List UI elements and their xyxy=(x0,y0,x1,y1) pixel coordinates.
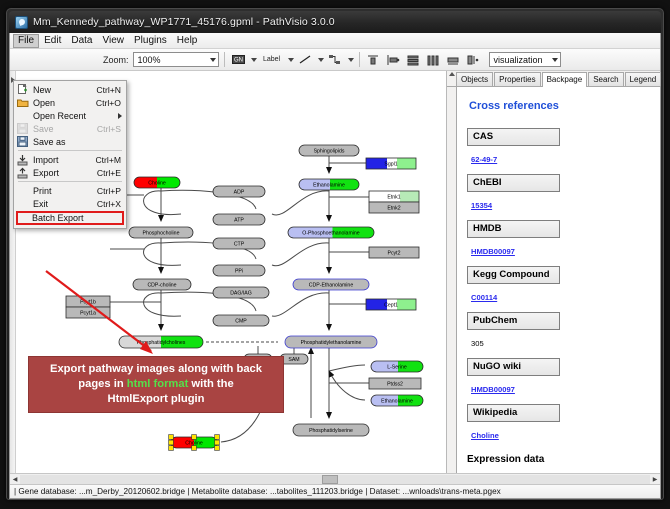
file-menu-item-label: Batch Export xyxy=(32,213,122,223)
toolbar: Zoom: 100% GN Label xyxy=(10,49,660,71)
window-titlebar: Mm_Kennedy_pathway_WP1771_45176.gpml - P… xyxy=(9,11,661,33)
save-as-icon xyxy=(16,136,29,147)
tab-search[interactable]: Search xyxy=(588,72,623,86)
window-title: Mm_Kennedy_pathway_WP1771_45176.gpml - P… xyxy=(33,16,335,28)
gene-product-tool-icon[interactable]: GN xyxy=(230,51,247,68)
scroll-left-icon[interactable]: ◀ xyxy=(10,475,20,484)
pathway-metabolite-node[interactable]: DAG/IAG xyxy=(213,287,269,298)
file-menu-item-label: Open xyxy=(33,98,96,108)
pathway-node-label: ADP xyxy=(234,189,245,195)
pathvisio-app-icon xyxy=(15,16,28,29)
file-menu-item-print[interactable]: PrintCtrl+P xyxy=(14,184,126,197)
pathway-node-label: Pcyt2 xyxy=(388,250,401,256)
align-left-tool-icon[interactable] xyxy=(385,51,402,68)
menu-edit[interactable]: Edit xyxy=(39,34,66,48)
zoom-label: Zoom: xyxy=(103,55,129,65)
svg-text:GN: GN xyxy=(234,58,243,64)
pathway-node-label: Sgpl1 xyxy=(384,161,397,167)
file-menu-item-accelerator: Ctrl+X xyxy=(97,199,126,209)
pathway-metabolite-node[interactable]: CMP xyxy=(213,315,269,326)
pathway-node-label: Sphingolipids xyxy=(314,148,345,154)
file-menu-item-accelerator: Ctrl+E xyxy=(97,168,126,178)
pathway-node-label: Phosphatidylcholines xyxy=(137,340,186,346)
toolbar-separator xyxy=(224,52,225,67)
pathway-node-label: Ptdss2 xyxy=(387,381,403,387)
align-top-tool-icon[interactable] xyxy=(365,51,382,68)
file-menu-item-label: Save as xyxy=(33,137,126,147)
backpage-left-rail xyxy=(456,87,457,473)
pathway-node-label: DAG/IAG xyxy=(230,290,252,296)
file-menu-item-label: Exit xyxy=(33,199,97,209)
pathway-metabolite-node[interactable]: Phosphatidylcholines xyxy=(119,336,203,348)
xref-source-cas: CAS xyxy=(467,128,560,146)
pathway-metabolite-node[interactable]: L-Serine xyxy=(371,361,423,372)
toolbar-separator-2 xyxy=(359,52,360,67)
xref-source-hmdb: HMDB xyxy=(467,220,560,238)
file-menu-separator xyxy=(18,150,122,151)
save-disk-icon xyxy=(16,123,29,134)
file-menu-item-accelerator: Ctrl+N xyxy=(96,85,126,95)
scrollbar-thumb[interactable] xyxy=(322,475,338,484)
pathway-gene-node[interactable]: Pcyt1b xyxy=(66,296,110,307)
size-equal-tool-icon[interactable] xyxy=(445,51,462,68)
pathway-gene-node[interactable]: Pcyt2 xyxy=(369,247,419,258)
callout-line-1: Export pathway images along with back xyxy=(50,363,262,375)
pathway-gene-node[interactable]: Etnk2 xyxy=(369,202,419,213)
menu-plugins[interactable]: Plugins xyxy=(129,34,172,48)
gene-product-dropdown-icon[interactable] xyxy=(251,58,257,62)
pathway-metabolite-node[interactable]: ATP xyxy=(213,214,265,225)
pathway-node-label: O-Phosphoethanolamine xyxy=(302,230,360,236)
selection-handle[interactable] xyxy=(169,440,174,445)
selection-handle[interactable] xyxy=(215,440,220,445)
callout-highlight: html format xyxy=(127,378,189,390)
statusbar-text: | Gene database: ...m_Derby_20120602.bri… xyxy=(14,487,501,496)
line-dropdown-icon[interactable] xyxy=(318,58,324,62)
selection-handle[interactable] xyxy=(215,446,220,451)
cross-references-heading: Cross references xyxy=(469,100,650,112)
menu-data[interactable]: Data xyxy=(66,34,97,48)
pathway-node-label: Ethanolamine xyxy=(313,182,345,188)
visualization-combo[interactable]: visualization xyxy=(489,52,561,67)
tab-backpage[interactable]: Backpage xyxy=(542,72,588,87)
file-menu-item-save-as[interactable]: Save as xyxy=(14,135,126,148)
selection-handle[interactable] xyxy=(169,435,174,440)
pathway-node-label: CMP xyxy=(235,318,247,324)
pathway-node-label: Etnk1 xyxy=(387,194,400,200)
pathway-gene-node[interactable]: Pcyt1a xyxy=(66,307,110,318)
backpage-content[interactable]: Cross references CAS62-49-7ChEBI15354HMD… xyxy=(456,87,660,473)
statusbar: | Gene database: ...m_Derby_20120602.bri… xyxy=(10,484,660,498)
pathway-metabolite-node[interactable]: Phosphocholine xyxy=(129,227,193,238)
scroll-right-icon[interactable]: ▶ xyxy=(650,475,660,484)
xref-value-pubchem: 305 xyxy=(471,339,484,348)
chevron-down-icon-2 xyxy=(552,58,558,62)
cross-reference-list: CAS62-49-7ChEBI15354HMDBHMDB00097Kegg Co… xyxy=(467,128,650,450)
new-document-icon xyxy=(16,84,29,95)
submenu-arrow-icon xyxy=(118,113,122,119)
pathway-metabolite-node[interactable]: Choline xyxy=(134,177,180,188)
menu-file[interactable]: File xyxy=(13,34,39,48)
stack-tool-icon[interactable] xyxy=(465,51,482,68)
xref-value-nugo-wiki[interactable]: HMDB00097 xyxy=(471,385,515,394)
file-menu-item-label: Import xyxy=(33,155,95,165)
file-menu-popup[interactable]: NewCtrl+NOpenCtrl+OOpen RecentSaveCtrl+S… xyxy=(13,80,127,229)
file-menu-item-import[interactable]: ImportCtrl+M xyxy=(14,153,126,166)
pathway-node-label: Etnk2 xyxy=(387,205,400,211)
pathway-node-label: SAM xyxy=(288,357,299,363)
pathway-metabolite-node[interactable]: Phosphatidylserine xyxy=(293,424,369,436)
tab-properties[interactable]: Properties xyxy=(494,72,540,86)
pathway-node-label: CTP xyxy=(234,241,245,247)
pathway-metabolite-node[interactable]: Phosphatidylethanolamine xyxy=(285,336,377,348)
distribute-horizontal-tool-icon[interactable] xyxy=(425,51,442,68)
menubar: File Edit Data View Plugins Help xyxy=(10,33,660,49)
file-menu-separator xyxy=(18,181,122,182)
scrollbar-track[interactable] xyxy=(20,475,650,484)
selection-handle[interactable] xyxy=(215,435,220,440)
pathway-node-label: CDP-Ethanolamine xyxy=(309,282,354,288)
pathway-node-label: CDP-choline xyxy=(147,282,176,288)
file-menu-item-open[interactable]: OpenCtrl+O xyxy=(14,96,126,109)
selection-handle[interactable] xyxy=(192,435,197,440)
side-panel: Objects Properties Backpage Search Legen… xyxy=(447,71,660,473)
xref-source-kegg-compound: Kegg Compound xyxy=(467,266,560,284)
pathway-node-label: Pcyt1b xyxy=(80,299,96,305)
chevron-down-icon xyxy=(210,58,216,62)
file-menu-item-batch-export[interactable]: Batch Export xyxy=(16,211,124,225)
label-tool-text: Label xyxy=(263,56,280,63)
label-tool-icon[interactable]: Label xyxy=(260,51,284,68)
file-menu-item-accelerator: Ctrl+P xyxy=(97,186,126,196)
xref-source-nugo-wiki: NuGO wiki xyxy=(467,358,560,376)
pathway-gene-node[interactable]: Sgpl1 xyxy=(366,158,416,169)
pathway-node-label: Phosphatidylethanolamine xyxy=(301,340,362,346)
xref-value-kegg-compound[interactable]: C00114 xyxy=(471,293,497,302)
pathway-gene-node[interactable]: Cept1 xyxy=(366,299,416,310)
xref-source-chebi: ChEBI xyxy=(467,174,560,192)
pathway-gene-node[interactable]: Ptdss2 xyxy=(369,378,421,389)
pathway-node-label: Cept1 xyxy=(384,302,398,308)
horizontal-scrollbar[interactable]: ◀ ▶ xyxy=(10,473,660,484)
pathway-metabolite-node[interactable]: CDP-Ethanolamine xyxy=(293,279,369,290)
file-menu-item-accelerator: Ctrl+S xyxy=(97,124,126,134)
pathway-node-label: Phosphocholine xyxy=(143,230,180,236)
annotation-callout: Export pathway images along with back pa… xyxy=(28,356,284,413)
file-menu-item-label: Save xyxy=(33,124,97,134)
menu-item-no-icon xyxy=(16,198,29,209)
application-body: File Edit Data View Plugins Help Zoom: 1… xyxy=(9,33,661,499)
pathway-node-label: Phosphatidylserine xyxy=(309,428,353,434)
file-menu-item-label: New xyxy=(33,85,96,95)
menu-view[interactable]: View xyxy=(97,34,129,48)
side-panel-tabs: Objects Properties Backpage Search Legen… xyxy=(447,71,660,87)
pathway-metabolite-node[interactable]: Choline xyxy=(169,435,220,451)
connector-dropdown-icon[interactable] xyxy=(348,58,354,62)
screenshot-root: Mm_Kennedy_pathway_WP1771_45176.gpml - P… xyxy=(0,0,670,509)
label-dropdown-icon[interactable] xyxy=(288,58,294,62)
menu-help[interactable]: Help xyxy=(172,34,203,48)
xref-value-wikipedia[interactable]: Choline xyxy=(471,431,499,440)
callout-line-3: HtmlExport plugin xyxy=(108,393,205,405)
xref-source-pubchem: PubChem xyxy=(467,312,560,330)
callout-line-2-post: with the xyxy=(188,378,233,390)
connector-tool-icon[interactable] xyxy=(327,51,344,68)
selection-handle[interactable] xyxy=(169,446,174,451)
pathway-node-label: Pcyt1a xyxy=(80,310,96,316)
file-menu-item-label: Export xyxy=(33,168,97,178)
menu-item-no-icon xyxy=(16,185,29,196)
pathway-node-label: ATP xyxy=(234,217,244,223)
pathway-metabolite-node[interactable]: O-Phosphoethanolamine xyxy=(288,227,374,238)
xref-value-cas[interactable]: 62-49-7 xyxy=(471,155,497,164)
export-icon xyxy=(16,167,29,178)
tab-legend[interactable]: Legend xyxy=(625,72,662,86)
line-tool-icon[interactable] xyxy=(297,51,314,68)
pathway-metabolite-node[interactable]: PPi xyxy=(213,265,265,276)
file-menu-item-new[interactable]: NewCtrl+N xyxy=(14,83,126,96)
xref-value-hmdb[interactable]: HMDB00097 xyxy=(471,247,515,256)
pathway-node-label: L-Serine xyxy=(387,364,407,370)
pathway-metabolite-node[interactable]: Ethanolamine xyxy=(299,179,359,190)
file-menu-item-label: Open Recent xyxy=(33,111,126,121)
tab-objects[interactable]: Objects xyxy=(456,72,493,86)
file-menu-item-accelerator: Ctrl+O xyxy=(96,98,126,108)
file-menu-item-export[interactable]: ExportCtrl+E xyxy=(14,166,126,179)
file-menu-item-save: SaveCtrl+S xyxy=(14,122,126,135)
pathway-metabolite-node[interactable]: Sphingolipids xyxy=(299,145,359,156)
import-icon xyxy=(16,154,29,165)
distribute-vertical-tool-icon[interactable] xyxy=(405,51,422,68)
file-menu-item-accelerator: Ctrl+M xyxy=(95,155,126,165)
visualization-value: visualization xyxy=(494,55,543,65)
xref-source-wikipedia: Wikipedia xyxy=(467,404,560,422)
file-menu-item-label: Print xyxy=(33,186,97,196)
menu-item-no-icon xyxy=(16,110,29,121)
callout-line-2-pre: pages in xyxy=(78,378,127,390)
pathway-metabolite-node[interactable]: ADP xyxy=(213,186,265,197)
zoom-value: 100% xyxy=(138,55,161,65)
selection-handle[interactable] xyxy=(192,446,197,451)
expression-data-heading: Expression data xyxy=(467,454,650,465)
annotation-callout-text: Export pathway images along with back pa… xyxy=(44,362,268,407)
pathway-node-label: Ethanolamine xyxy=(381,398,413,404)
pathway-node-label: PPi xyxy=(235,268,243,274)
zoom-combo[interactable]: 100% xyxy=(133,52,219,67)
file-menu-item-open-recent[interactable]: Open Recent xyxy=(14,109,126,122)
open-folder-icon xyxy=(16,97,29,108)
pathway-metabolite-node[interactable]: CDP-choline xyxy=(133,279,191,290)
pathway-metabolite-node[interactable]: SAM xyxy=(280,354,308,364)
application-window: Mm_Kennedy_pathway_WP1771_45176.gpml - P… xyxy=(6,8,664,500)
xref-value-chebi[interactable]: 15354 xyxy=(471,201,492,210)
file-menu-item-exit[interactable]: ExitCtrl+X xyxy=(14,197,126,210)
pathway-node-label: Choline xyxy=(148,180,166,186)
pathway-metabolite-node[interactable]: CTP xyxy=(213,238,265,249)
pathway-gene-node[interactable]: Etnk1 xyxy=(369,191,419,202)
pathway-metabolite-node[interactable]: Ethanolamine xyxy=(371,395,423,406)
